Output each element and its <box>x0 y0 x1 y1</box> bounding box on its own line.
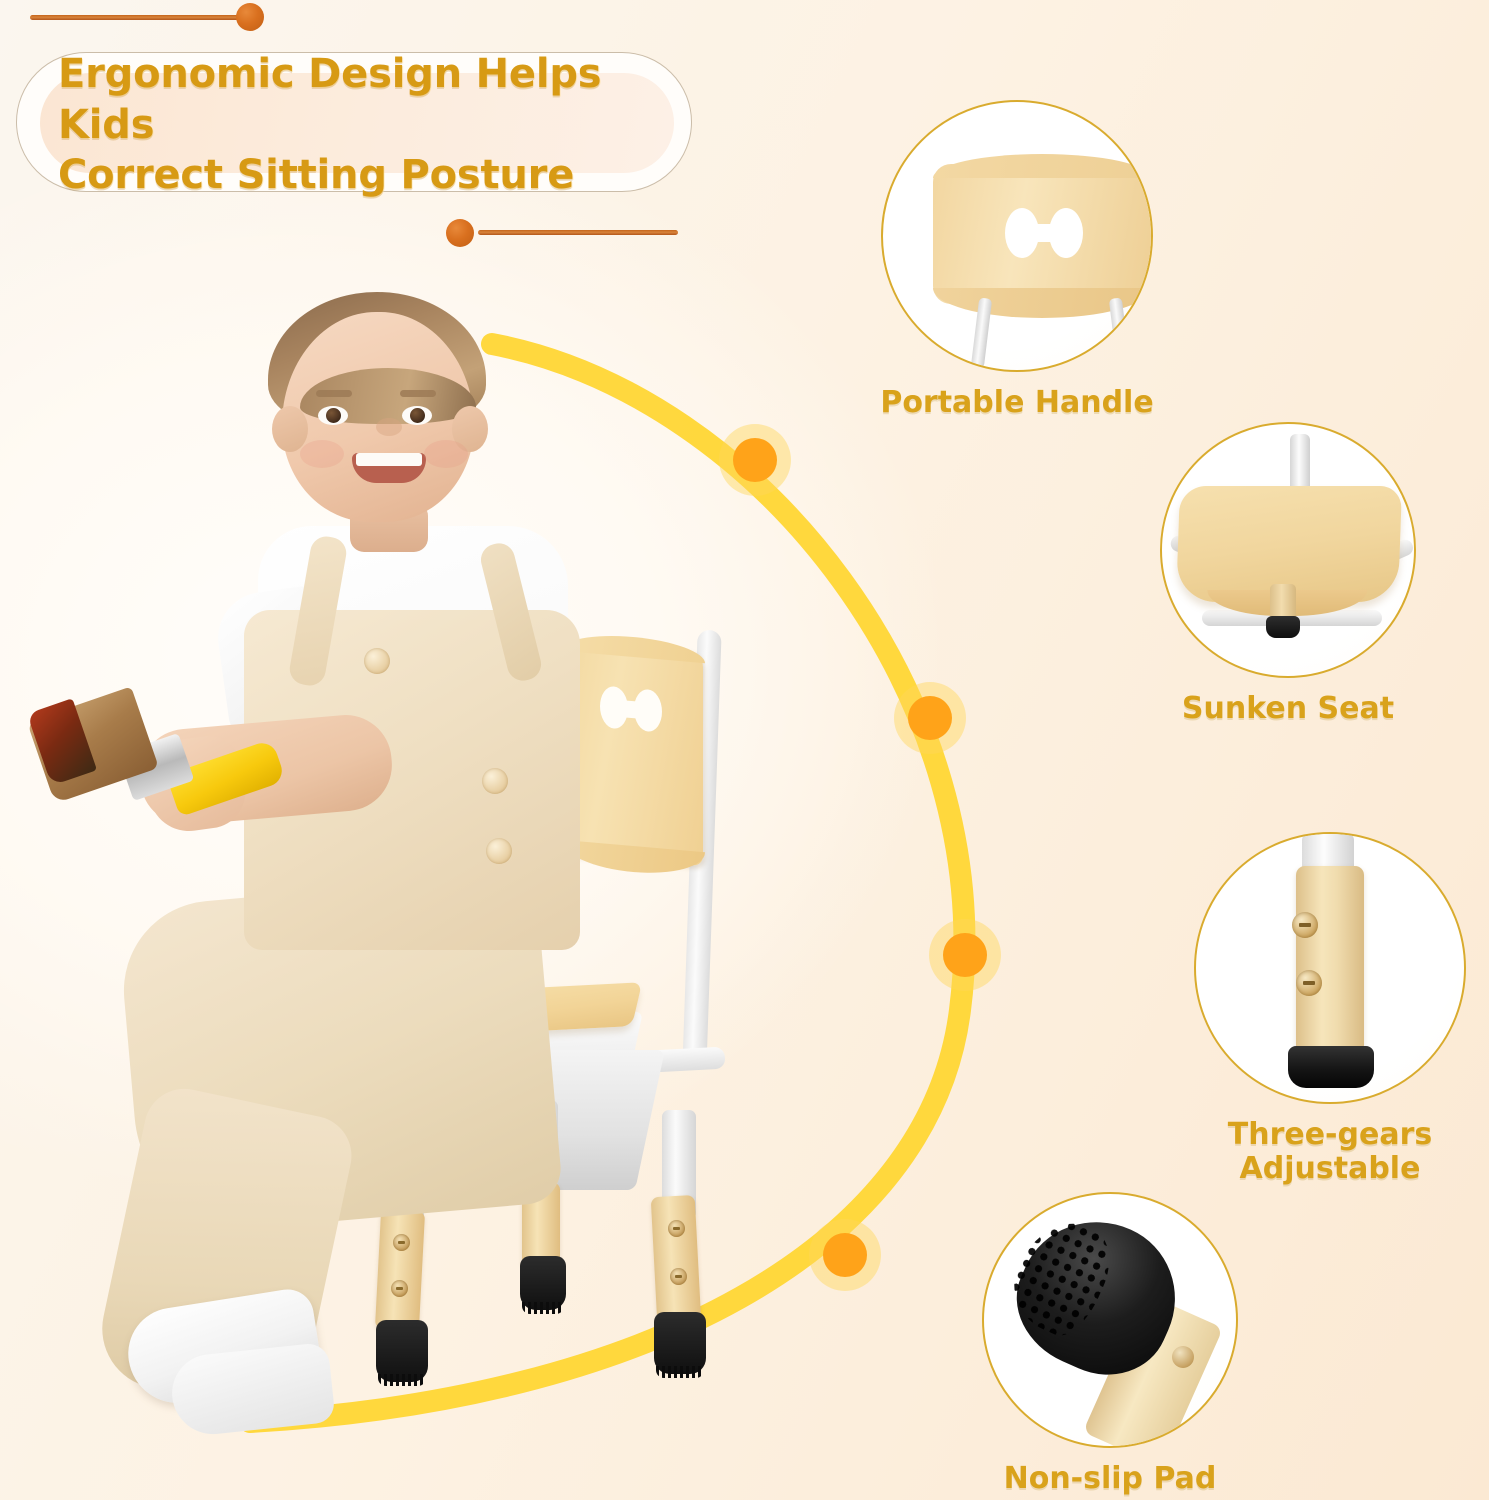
chair-leg-extension-front-right <box>651 1195 702 1325</box>
feature-image-three-gears <box>1194 832 1466 1104</box>
chair-leg-screw <box>668 1220 685 1237</box>
adjust-button-lower <box>1296 970 1322 996</box>
feature-image-portable-handle <box>881 100 1153 372</box>
feature-image-sunken-seat <box>1160 422 1416 678</box>
feature-callout-portable-handle[interactable]: Portable Handle <box>857 100 1177 420</box>
child-mouth <box>352 453 426 483</box>
feature-label-non-slip-pad: Non-slip Pad <box>950 1462 1270 1496</box>
chair-leg-screw <box>670 1268 687 1285</box>
bottom-accent-dot <box>446 219 474 247</box>
child-brow-left <box>316 390 352 397</box>
backrest-post-right <box>1109 297 1130 368</box>
overall-button <box>486 838 512 864</box>
child-eye-left <box>318 406 348 425</box>
top-accent-line <box>30 15 242 20</box>
leg-screw <box>1172 1346 1194 1368</box>
non-slip-foot-cap <box>654 1312 706 1374</box>
arc-marker-4-core <box>823 1233 867 1277</box>
child-nose <box>376 418 402 436</box>
page-title-line1: Ergonomic Design Helps Kids <box>58 49 676 150</box>
feature-label-portable-handle: Portable Handle <box>857 386 1177 420</box>
overall-button <box>364 648 390 674</box>
child-brow-right <box>400 390 436 397</box>
overall-button <box>482 768 508 794</box>
child-ear-left <box>272 406 308 452</box>
infographic-canvas: Ergonomic Design Helps Kids Correct Sitt… <box>0 0 1489 1500</box>
feature-callout-three-gears[interactable]: Three-gears Adjustable <box>1185 832 1475 1185</box>
child-cheek-right <box>424 440 468 468</box>
adjustable-leg-sleeve <box>1296 866 1364 1054</box>
hero-product-photo <box>0 290 760 1470</box>
feature-image-non-slip-pad <box>982 1192 1238 1448</box>
feature-callout-sunken-seat[interactable]: Sunken Seat <box>1128 422 1448 726</box>
adjust-button-upper <box>1292 912 1318 938</box>
child-figure <box>0 290 620 1470</box>
feature-label-sunken-seat: Sunken Seat <box>1128 692 1448 726</box>
feature-callout-non-slip-pad[interactable]: Non-slip Pad <box>950 1192 1270 1496</box>
top-accent-dot <box>236 3 264 31</box>
arc-marker-2-core <box>908 696 952 740</box>
seat-pin-cap <box>1266 616 1300 638</box>
feature-label-three-gears-line1: Three-gears <box>1185 1118 1475 1152</box>
feature-label-three-gears-line2: Adjustable <box>1185 1152 1475 1186</box>
child-cheek-left <box>300 440 344 468</box>
arc-marker-3-core <box>943 933 987 977</box>
bottom-accent-line <box>478 230 678 235</box>
page-title: Ergonomic Design Helps Kids Correct Sitt… <box>46 70 676 180</box>
non-slip-foot-cap <box>1288 1046 1374 1088</box>
page-title-line2: Correct Sitting Posture <box>58 150 676 200</box>
child-eye-right <box>402 406 432 425</box>
feature-label-three-gears: Three-gears Adjustable <box>1185 1118 1475 1185</box>
handle-cutout-icon <box>600 685 662 732</box>
handle-cutout-icon <box>1005 208 1083 258</box>
